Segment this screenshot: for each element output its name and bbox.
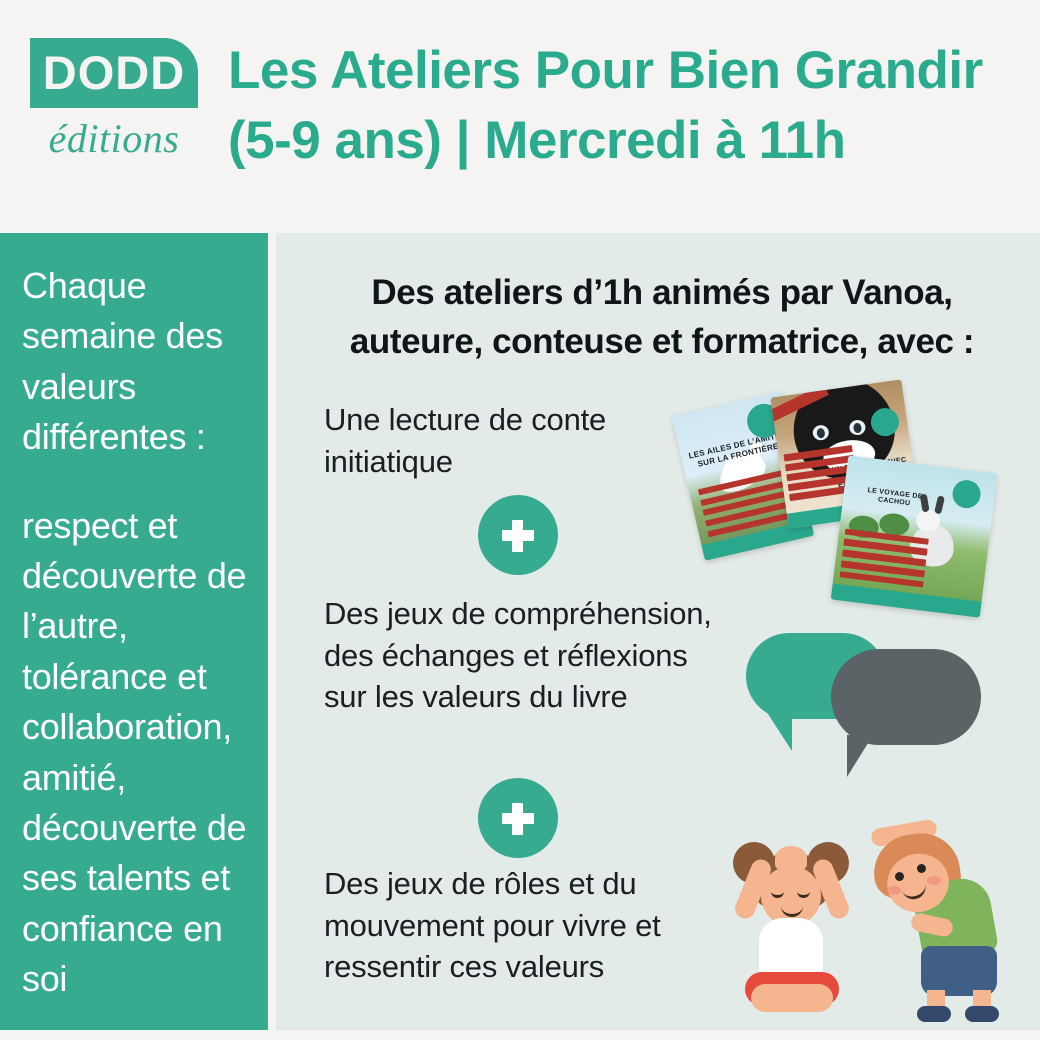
header-band: DODD éditions Les Ateliers Pour Bien Gra… (0, 0, 1040, 232)
boy-eye-left (895, 872, 904, 881)
sidebar-text: Chaque semaine des valeurs différentes :… (22, 261, 258, 1004)
boy-cheek-right (927, 876, 941, 885)
poster-canvas: DODD éditions Les Ateliers Pour Bien Gra… (0, 0, 1040, 1040)
plus-icon-1 (478, 495, 558, 575)
values-sidebar: Chaque semaine des valeurs différentes :… (0, 233, 268, 1030)
page-title: Les Ateliers Pour Bien Grandir (5-9 ans)… (228, 36, 1018, 176)
item-1-text: Une lecture de conte initiatique (324, 399, 654, 482)
girl-face (761, 866, 821, 926)
speech-bubble-gray-icon (831, 649, 981, 745)
boy-eye-right (917, 864, 926, 873)
girl-yoga-icon (729, 832, 859, 1022)
boy-cheek-left (887, 886, 901, 895)
bubble-teal-tail (766, 711, 792, 751)
sidebar-paragraph-2: respect et découverte de l’autre, toléra… (22, 501, 258, 1005)
boy-shoe-right (965, 1006, 999, 1022)
boy-shoe-left (917, 1006, 951, 1022)
stretching-kids-illustration (719, 818, 1019, 1030)
sidebar-paragraph-1: Chaque semaine des valeurs différentes : (22, 265, 223, 457)
speech-bubbles-icon (746, 623, 981, 773)
bottom-strip (0, 1030, 1040, 1040)
item-2-text: Des jeux de compréhension, des échanges … (324, 593, 714, 718)
girl-eye-right (797, 890, 810, 898)
logo-mark: DODD (30, 38, 198, 108)
logo-subtitle: éditions (30, 119, 198, 159)
content-heading: Des ateliers d’1h animés par Vanoa, aute… (302, 268, 1022, 366)
page-title-line1: Les Ateliers Pour Bien Grandir (228, 41, 983, 100)
book-3-text-bars (839, 528, 929, 593)
book-cover-cachou: LE VOYAGE DE CACHOU (831, 455, 998, 617)
content-panel: Des ateliers d’1h animés par Vanoa, aute… (276, 233, 1040, 1030)
page-title-line2: (5-9 ans) | Mercredi à 11h (228, 106, 1018, 176)
brand-logo: DODD éditions (30, 38, 198, 159)
boy-stretching-icon (865, 824, 1015, 1024)
item-3-text: Des jeux de rôles et du mouvement pour v… (324, 863, 704, 988)
girl-smile (781, 904, 803, 917)
boy-shorts (921, 946, 997, 996)
bubble-gray-tail (847, 735, 873, 777)
book-3-badge (951, 478, 982, 509)
girl-eye-left (771, 890, 784, 898)
bubble-gray-body (831, 649, 981, 745)
plus-icon-2 (478, 778, 558, 858)
books-illustration: LES AILES DE L’AMITIÉ SUR LA FRONTIÈRE U… (681, 388, 1031, 628)
book-3-title: LE VOYAGE DE CACHOU (852, 485, 937, 512)
logo-wordmark: DODD (43, 49, 185, 96)
girl-crossed-legs (751, 984, 833, 1012)
